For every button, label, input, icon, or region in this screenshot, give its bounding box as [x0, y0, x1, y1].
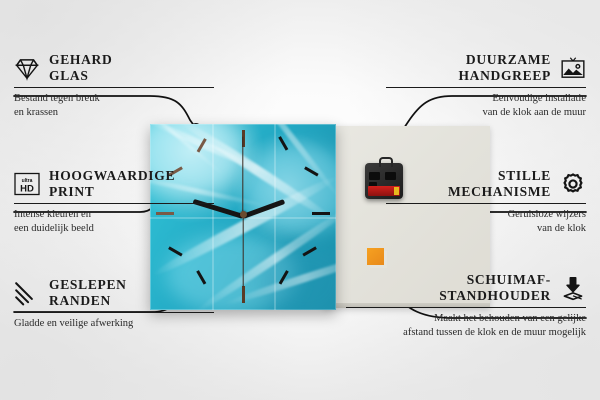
callout-title: DUURZAME HANDGREEP [458, 52, 551, 84]
callout-schuimafstandhouder[interactable]: SCHUIMAF- STANDHOUDER Maakt het behouden… [346, 272, 586, 340]
callout-header: SCHUIMAF- STANDHOUDER [346, 272, 586, 304]
callout-description: Maakt het behouden van een gelijke afsta… [346, 312, 586, 340]
callout-description: Geruisloze wijzers van de klok [386, 208, 586, 236]
gear-icon [560, 171, 586, 197]
callout-divider [14, 312, 214, 313]
callout-title: GEHARD GLAS [49, 52, 112, 84]
callout-description: Eenvoudige installatie van de klok aan d… [386, 92, 586, 120]
clock-tick-6 [242, 286, 245, 303]
clock-hand-second [242, 215, 243, 287]
callout-header: ultra HD HOOGWAARDIGE PRINT [14, 168, 214, 200]
callout-divider [14, 87, 214, 88]
callout-divider [386, 87, 586, 88]
clock-hand-pivot [240, 211, 247, 218]
callout-divider [14, 203, 214, 204]
callout-header: STILLE MECHANISME [386, 168, 586, 200]
svg-text:HD: HD [20, 183, 34, 194]
foam-spacer-pad [367, 248, 384, 265]
callout-geslepen-randen[interactable]: GESLEPEN RANDEN Gladde en veilige afwerk… [14, 277, 214, 331]
callout-header: DUURZAME HANDGREEP [386, 52, 586, 84]
callout-divider [346, 307, 586, 308]
clock-hand-second-tail [242, 137, 243, 215]
callout-duurzame-handgreep[interactable]: DUURZAME HANDGREEP Eenvoudige installati… [386, 52, 586, 120]
callout-gehard-glas[interactable]: GEHARD GLAS Bestand tegen breuk en krass… [14, 52, 214, 120]
mechanism-hanger [379, 157, 393, 167]
clock-tick-3 [312, 212, 330, 215]
ultra-hd-icon: ultra HD [14, 171, 40, 197]
press-down-icon [560, 275, 586, 301]
callout-divider [386, 203, 586, 204]
callout-description: Intense kleuren en een duidelijk beeld [14, 208, 214, 236]
callout-title: HOOGWAARDIGE PRINT [49, 168, 175, 200]
callout-title: SCHUIMAF- STANDHOUDER [439, 272, 551, 304]
callout-title: GESLEPEN RANDEN [49, 277, 127, 309]
diamond-icon [14, 55, 40, 81]
callout-stille-mechanisme[interactable]: STILLE MECHANISME Geruisloze wijzers van… [386, 168, 586, 236]
callout-header: GESLEPEN RANDEN [14, 277, 214, 309]
callout-description: Gladde en veilige afwerking [14, 317, 214, 331]
callout-hoogwaardige-print[interactable]: ultra HD HOOGWAARDIGE PRINT Intense kleu… [14, 168, 214, 236]
callout-title: STILLE MECHANISME [448, 168, 551, 200]
product-feature-infographic: GEHARD GLAS Bestand tegen breuk en krass… [0, 0, 600, 400]
callout-header: GEHARD GLAS [14, 52, 214, 84]
callout-description: Bestand tegen breuk en krassen [14, 92, 214, 120]
diagonal-lines-icon [14, 280, 40, 306]
picture-frame-icon [560, 55, 586, 81]
mechanism-detail [369, 172, 380, 180]
